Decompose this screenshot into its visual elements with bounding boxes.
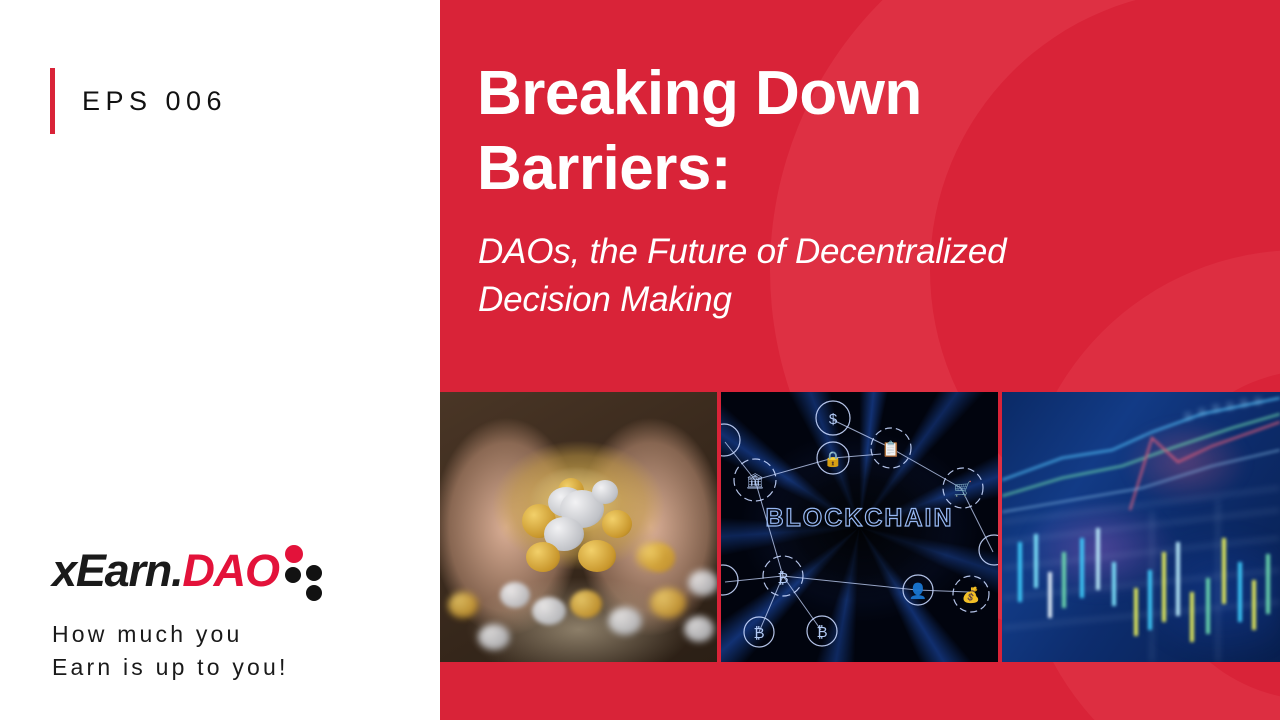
logo-dot-black-bottom-icon (306, 585, 322, 601)
episode-number-label: EPS 006 (82, 86, 227, 117)
svg-text:🏛: 🏛 (745, 473, 764, 490)
svg-text:₿: ₿ (816, 624, 827, 641)
logo-dot-red-icon (285, 545, 303, 563)
photo-blockchain-network: $ 🔒 📋 🏛 🛒 ₿ 👤 💰 ₿ ₿ BLOCKCHAIN (721, 392, 998, 662)
brand-logo-block: xEarn.DAO How much you Earn is up to you… (52, 548, 327, 685)
photo-hands-holding-crypto-coins (440, 392, 717, 662)
podcast-episode-cover: EPS 006 xEarn.DAO How much you Earn is u… (0, 0, 1280, 720)
blockchain-caption: BLOCKCHAIN (721, 504, 998, 533)
svg-text:$: $ (829, 411, 838, 428)
photo-trading-chart (1002, 392, 1280, 662)
left-info-panel: EPS 006 xEarn.DAO How much you Earn is u… (0, 0, 440, 720)
svg-text:₿: ₿ (777, 570, 788, 587)
episode-subtitle: DAOs, the Future of Decentralized Decisi… (478, 228, 1248, 325)
logo-dot-black-middle-icon (306, 565, 322, 581)
brand-tagline: How much you Earn is up to you! (52, 618, 327, 685)
svg-text:🛒: 🛒 (954, 480, 973, 498)
svg-text:🔒: 🔒 (824, 451, 843, 468)
svg-text:👤: 👤 (909, 582, 928, 600)
episode-number-block: EPS 006 (50, 68, 227, 134)
photo-strip: $ 🔒 📋 🏛 🛒 ₿ 👤 💰 ₿ ₿ BLOCKCHAIN (440, 392, 1280, 662)
episode-title: Breaking Down Barriers: (477, 56, 1237, 206)
svg-text:📋: 📋 (882, 440, 901, 458)
logo-row: xEarn.DAO (52, 548, 327, 597)
chart-lines (1002, 392, 1280, 662)
brand-name-dark: xEarn. (52, 545, 182, 596)
brand-name-accent: DAO (182, 545, 278, 596)
logo-dot-cluster-icon (285, 545, 327, 597)
svg-text:₿: ₿ (753, 625, 764, 642)
svg-text:💰: 💰 (962, 586, 981, 604)
accent-bar (50, 68, 55, 134)
brand-wordmark: xEarn.DAO (52, 548, 279, 593)
logo-dot-black-left-icon (285, 567, 301, 583)
